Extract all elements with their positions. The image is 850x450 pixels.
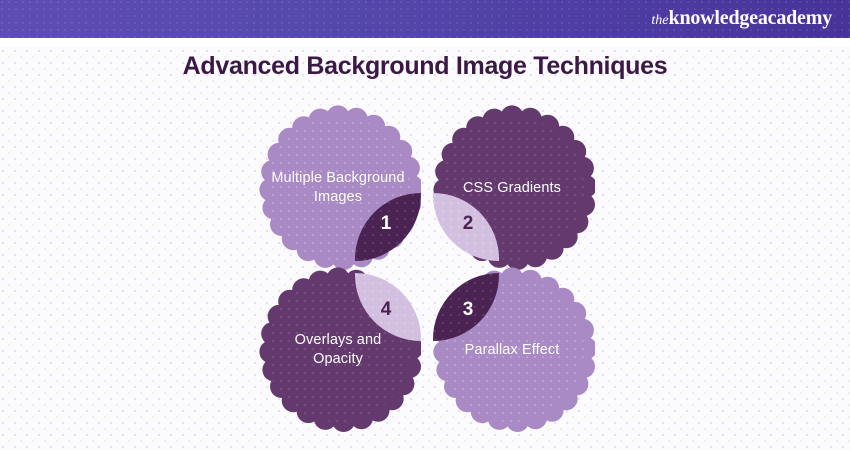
quadrant-2[interactable]: 2 — [433, 193, 499, 261]
quadrant-4[interactable]: 4 — [355, 273, 421, 341]
petal-label: Parallax Effect — [449, 341, 576, 360]
page-title: Advanced Background Image Techniques — [0, 52, 850, 81]
slide-canvas: theknowledgeacademy Advanced Background … — [0, 0, 850, 450]
quadrant-number: 1 — [381, 213, 392, 235]
header-underline — [0, 38, 850, 47]
brand-logo-prefix: the — [651, 13, 668, 28]
quadrant-number: 2 — [463, 213, 474, 235]
center-quadrant-cluster: 1 2 3 4 — [355, 193, 499, 341]
four-petal-diagram: Multiple Background Images — [255, 105, 595, 435]
header-bar: theknowledgeacademy — [0, 0, 850, 38]
quadrant-number: 3 — [463, 299, 474, 321]
quadrant-3[interactable]: 3 — [433, 273, 499, 341]
quadrant-number: 4 — [381, 299, 392, 321]
brand-logo-name: knowledgeacademy — [669, 7, 832, 29]
brand-logo: theknowledgeacademy — [651, 7, 832, 30]
quadrant-1[interactable]: 1 — [355, 193, 421, 261]
